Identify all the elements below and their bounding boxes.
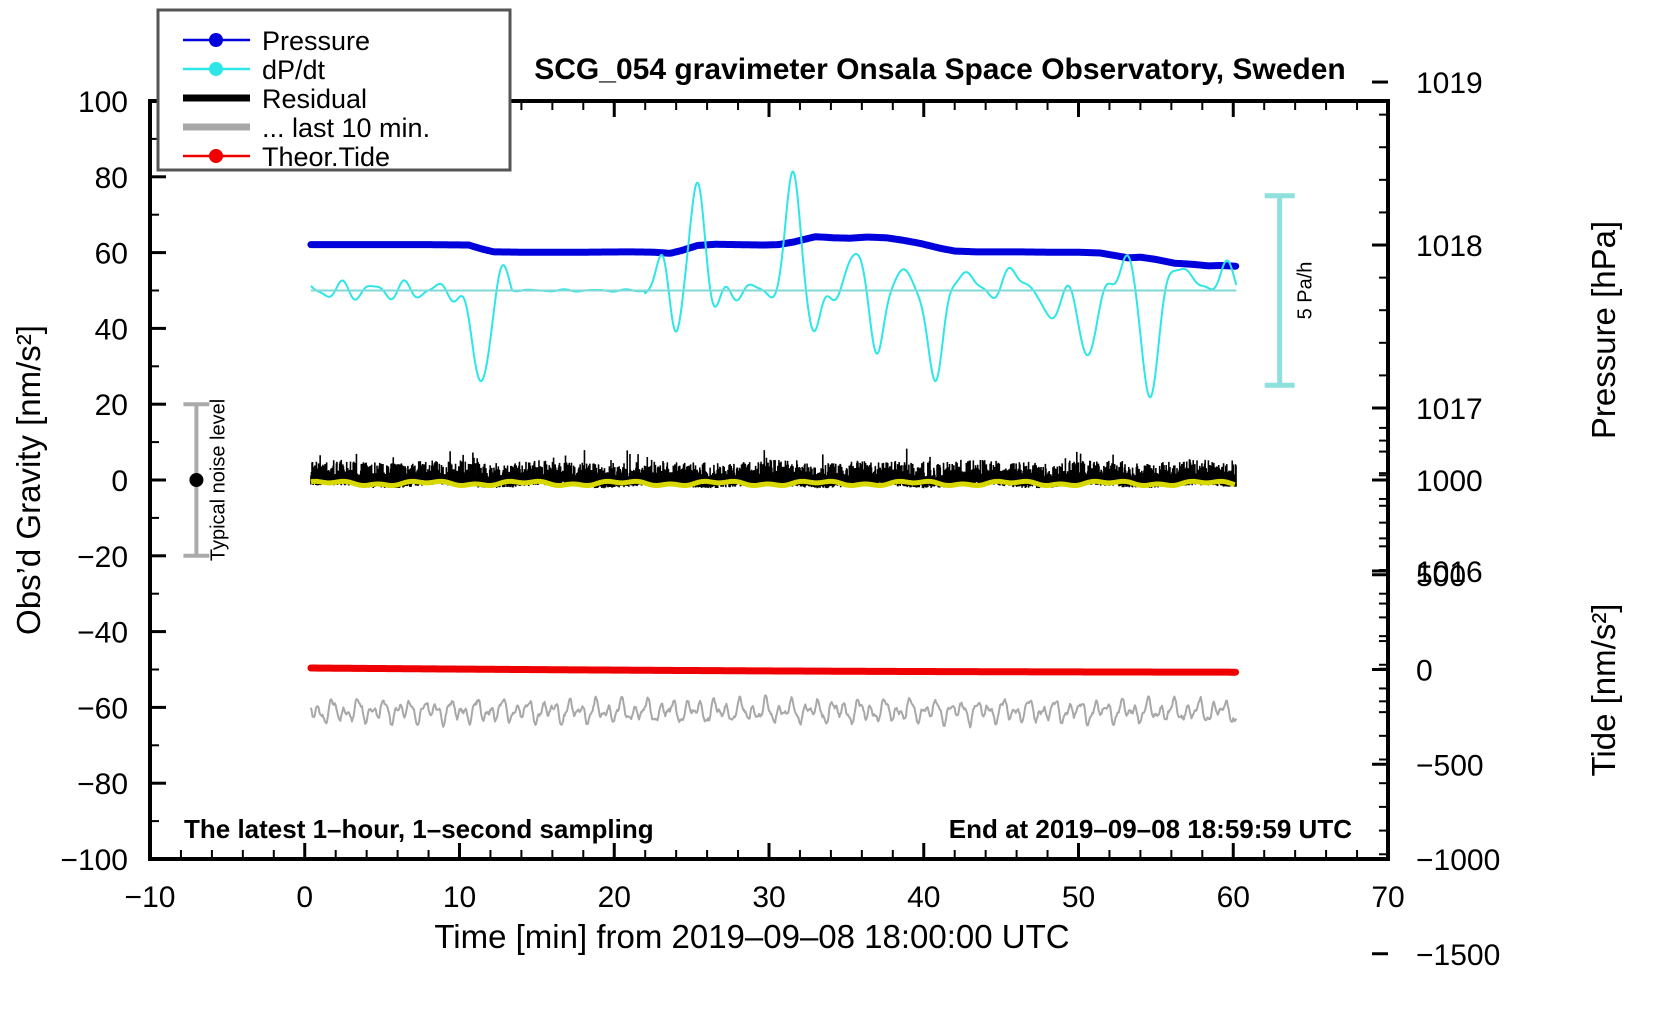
- x-tick-label: 20: [598, 881, 631, 914]
- annotation-end-time-note: End at 2019–09–08 18:59:59 UTC: [949, 814, 1352, 844]
- x-tick-label: 10: [443, 881, 476, 914]
- legend[interactable]: PressuredP/dtResidual... last 10 min.The…: [158, 10, 510, 172]
- y-tick-label: −100: [60, 844, 128, 877]
- right-bottom-tick-label: −500: [1416, 749, 1484, 782]
- x-tick-label: 30: [752, 881, 785, 914]
- y-tick-label: 20: [95, 389, 128, 422]
- legend-swatch-marker: [209, 33, 223, 47]
- y-tick-label: −80: [77, 768, 128, 801]
- legend-swatch-marker: [209, 149, 223, 163]
- chart-svg: −10010203040506070100806040200−20−40−60−…: [0, 0, 1660, 1020]
- right-bottom-tick-label: −1500: [1416, 939, 1500, 972]
- series-theor-tide-line: [311, 668, 1236, 672]
- typical-noise-level-label: Typical noise level: [207, 399, 229, 561]
- right-bottom-tick-label: 1000: [1416, 465, 1483, 498]
- x-tick-label: 60: [1217, 881, 1250, 914]
- right-top-tick-label: 1019: [1416, 67, 1483, 100]
- legend-item-label: ... last 10 min.: [262, 113, 430, 143]
- x-axis-title: Time [min] from 2019–09–08 18:00:00 UTC: [434, 918, 1069, 955]
- x-tick-label: 40: [907, 881, 940, 914]
- right-bottom-tick-label: 0: [1416, 655, 1433, 688]
- right-top-tick-label: 1017: [1416, 393, 1483, 426]
- y-tick-label: −60: [77, 692, 128, 725]
- x-tick-label: −10: [125, 881, 176, 914]
- legend-item-label: dP/dt: [262, 55, 326, 85]
- x-tick-label: 70: [1371, 881, 1404, 914]
- right-bottom-tick-label: −1000: [1416, 844, 1500, 877]
- legend-item-label: Theor.Tide: [262, 142, 390, 172]
- legend-swatch-marker: [209, 62, 223, 76]
- legend-item-label: Residual: [262, 84, 367, 114]
- right-bottom-tick-label: 500: [1416, 560, 1466, 593]
- legend-item-label: Pressure: [262, 26, 370, 56]
- y-tick-label: −40: [77, 617, 128, 650]
- y-tick-label: 80: [95, 162, 128, 195]
- chart-title: SCG_054 gravimeter Onsala Space Observat…: [534, 53, 1346, 86]
- y-tick-label: 100: [78, 86, 128, 119]
- y-tick-label: 40: [95, 313, 128, 346]
- x-tick-label: 50: [1062, 881, 1095, 914]
- y-tick-label: −20: [77, 541, 128, 574]
- y-tick-label: 0: [111, 465, 128, 498]
- y-axis-title: Obs’d Gravity [nm/s²]: [10, 325, 47, 635]
- scale-bar-label: 5 Pa/h: [1295, 262, 1317, 320]
- annotation-sampling-note: The latest 1–hour, 1–second sampling: [184, 814, 654, 844]
- right-bottom-axis-title: Tide [nm/s²]: [1585, 604, 1622, 777]
- right-top-axis-title: Pressure [hPa]: [1585, 221, 1622, 439]
- gravimeter-chart-page: −10010203040506070100806040200−20−40−60−…: [0, 0, 1660, 1020]
- x-tick-label: 0: [296, 881, 313, 914]
- y-tick-label: 60: [95, 238, 128, 271]
- right-top-tick-label: 1018: [1416, 230, 1483, 263]
